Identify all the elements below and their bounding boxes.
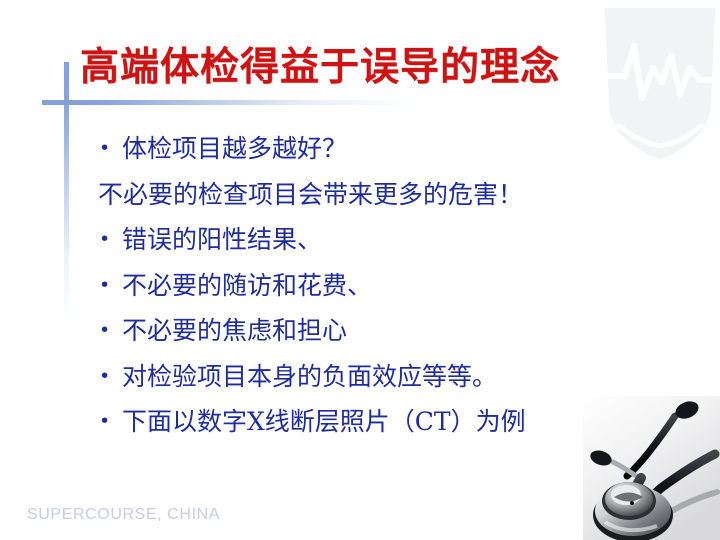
list-item: 不必要的检查项目会带来更多的危害！: [94, 172, 674, 218]
list-item: 下面以数字X线断层照片（CT）为例: [94, 399, 674, 445]
list-item: 对检验项目本身的负面效应等等。: [94, 354, 674, 400]
list-item: 不必要的焦虑和担心: [94, 308, 674, 354]
slide-title: 高端体检得益于误导的理念: [80, 44, 660, 90]
slide-footer: SUPERCOURSE, CHINA: [27, 506, 220, 524]
list-item: 错误的阳性结果、: [94, 217, 674, 263]
vertical-accent-rule: [64, 62, 69, 334]
presentation-slide: 高端体检得益于误导的理念 体检项目越多越好？ 不必要的检查项目会带来更多的危害！…: [0, 0, 720, 540]
list-item: 不必要的随访和花费、: [94, 263, 674, 309]
horizontal-accent-rule: [42, 100, 432, 105]
bullet-list: 体检项目越多越好？ 不必要的检查项目会带来更多的危害！ 错误的阳性结果、 不必要…: [94, 126, 674, 445]
list-item: 体检项目越多越好？: [94, 126, 674, 172]
